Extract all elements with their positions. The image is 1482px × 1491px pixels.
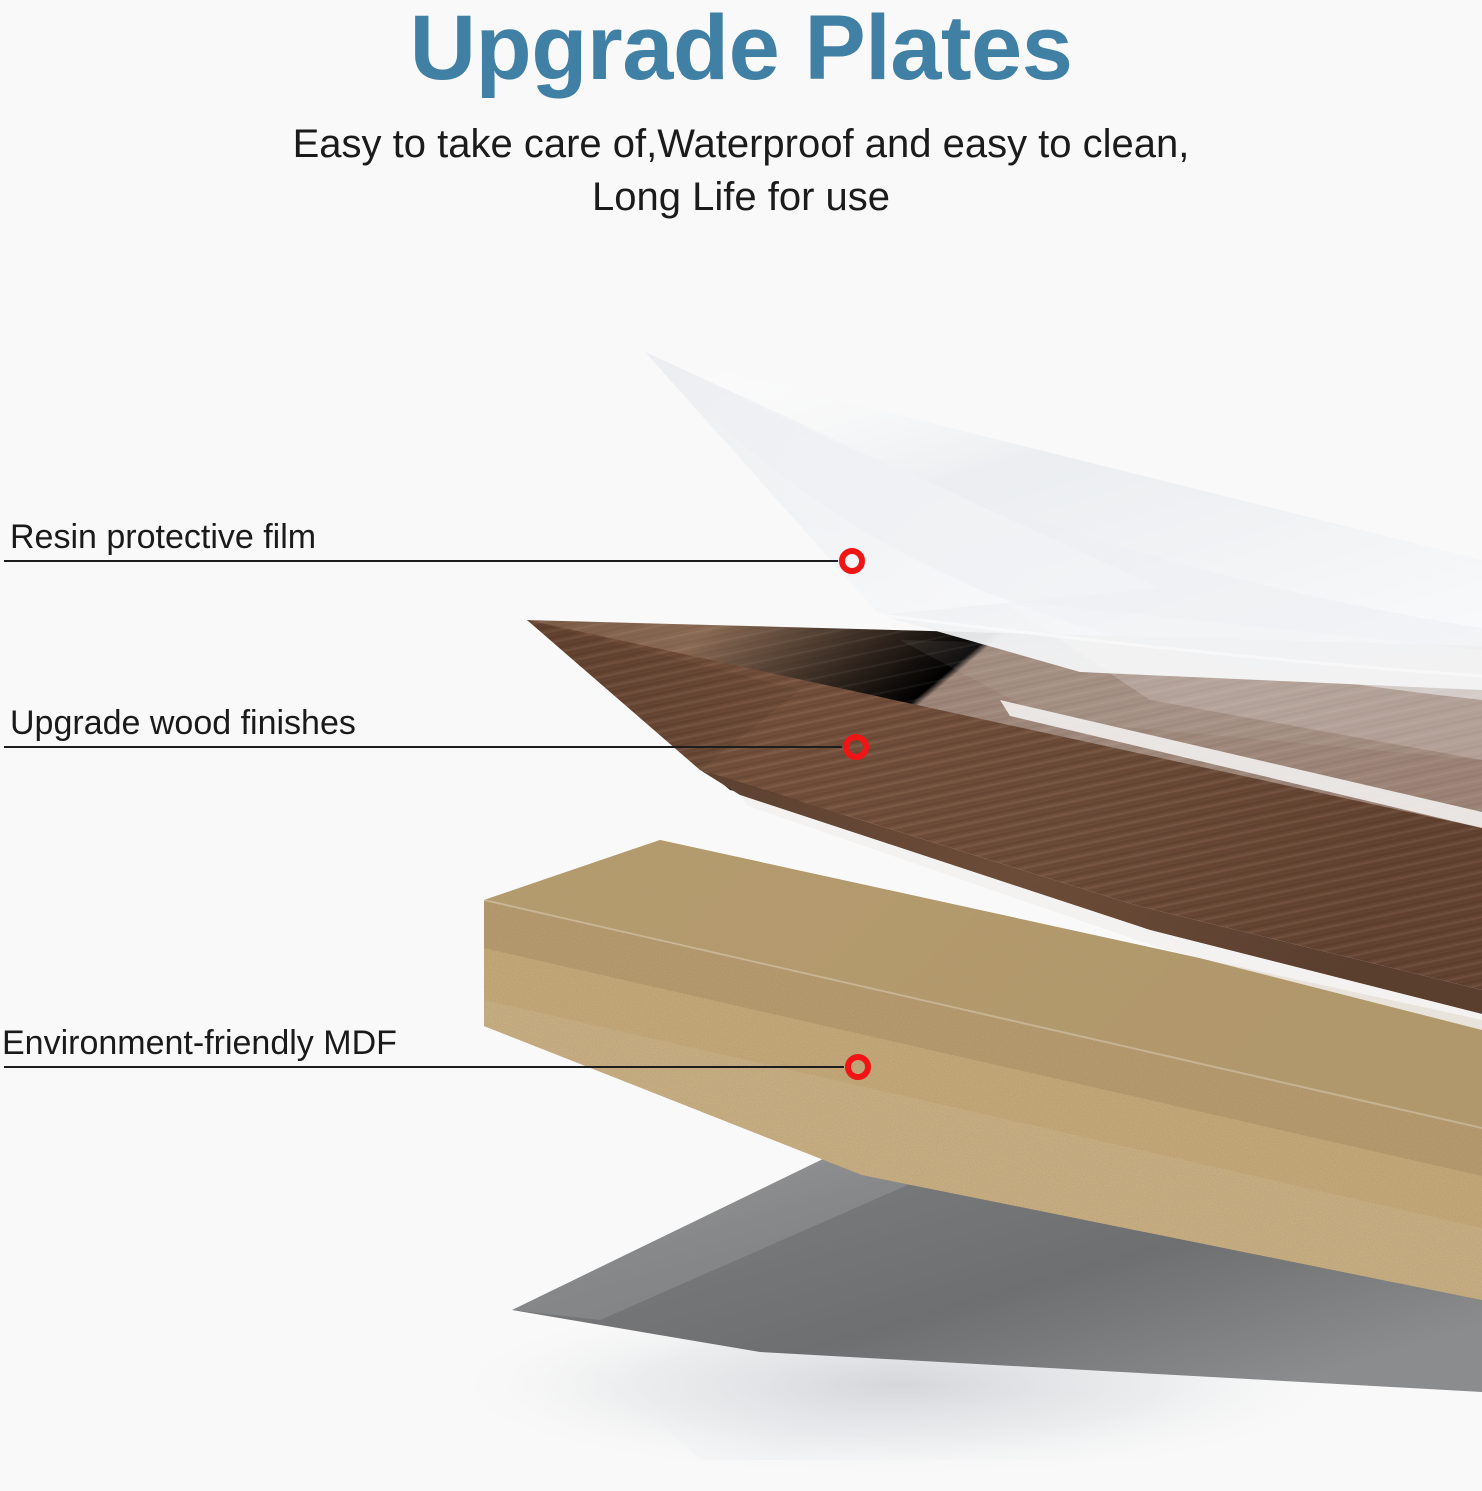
callout-leader-line-3 xyxy=(4,1066,844,1068)
callout-marker-dot-2[interactable] xyxy=(843,734,869,760)
callout-upgrade-wood-finishes: Upgrade wood finishes xyxy=(0,682,890,748)
callout-label-environment-friendly-mdf: Environment-friendly MDF xyxy=(2,1026,397,1060)
callout-leader-line-1 xyxy=(4,560,838,562)
infographic-page: Upgrade Plates Easy to take care of,Wate… xyxy=(0,0,1482,1491)
callout-leader-line-2 xyxy=(4,746,842,748)
callout-marker-dot-1[interactable] xyxy=(839,548,865,574)
callout-label-resin-protective-film: Resin protective film xyxy=(10,520,316,554)
callout-resin-protective-film: Resin protective film xyxy=(0,496,880,562)
callout-label-upgrade-wood-finishes: Upgrade wood finishes xyxy=(10,706,356,740)
callout-environment-friendly-mdf: Environment-friendly MDF xyxy=(0,1002,890,1068)
callout-marker-dot-3[interactable] xyxy=(845,1054,871,1080)
